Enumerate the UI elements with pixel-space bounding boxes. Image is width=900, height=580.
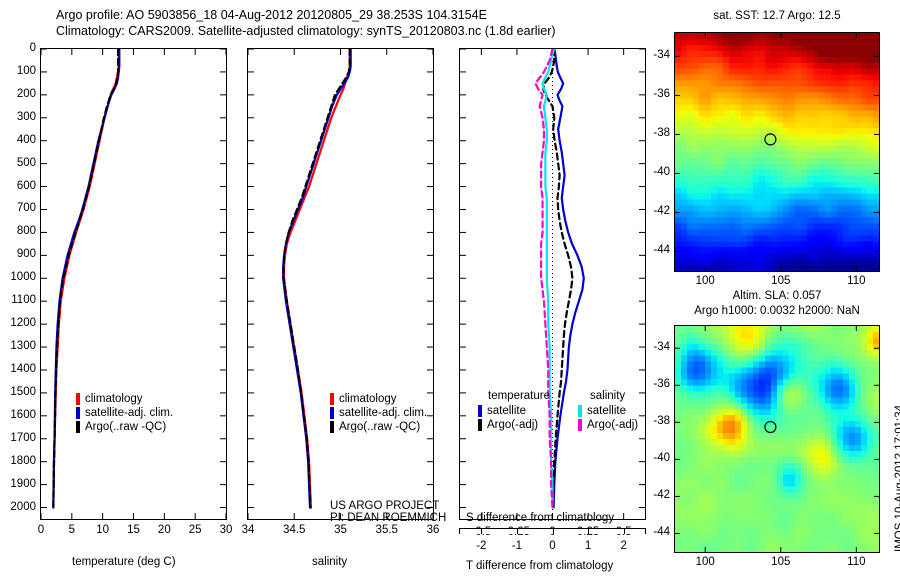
map-y-tick-label: -42 [640,205,670,217]
legend-swatch-satellite [76,407,80,419]
x-tick-label: 35 [319,524,363,536]
y-tick-label: 1000 [0,271,36,283]
y-tick-label: 2000 [0,501,36,513]
credit-line-2: PI: DEAN ROEMMICH [330,512,446,524]
temperature-diff-tick-label: 2 [606,540,642,552]
legend-label: Argo(-adj) [487,419,538,431]
legend-swatch-climatology [76,393,80,405]
credit-line-1: US ARGO PROJECT [330,500,446,512]
y-tick-label: 1100 [0,294,36,306]
x-tick-label: 36 [411,524,455,536]
y-tick-label: 700 [0,202,36,214]
map-y-tick-label: -36 [640,378,670,390]
x-tick-label: 34.5 [272,524,316,536]
header-line-2: Climatology: CARS2009. Satellite-adjuste… [56,24,556,38]
sla-map-title-line-2: Argo h1000: 0.0032 h2000: NaN [660,305,894,317]
y-tick-label: 100 [0,65,36,77]
legend-swatch-climatology [330,393,334,405]
x-tick-label: 35.5 [365,524,409,536]
temperature-diff-tick-label: -2 [463,540,499,552]
map-y-tick-label: -38 [640,127,670,139]
y-tick-label: 400 [0,134,36,146]
salinity-axis-label: salinity [312,556,347,568]
map-x-tick-label: 100 [685,275,725,287]
legend-item: Argo(..raw -QC) [76,420,173,434]
sla-map-title-line-1: Altim. SLA: 0.057 [672,290,882,302]
axis-tick [588,529,589,534]
legend-item: climatology [76,392,173,406]
difference-profile-canvas [460,49,645,519]
legend-label: Argo(..raw -QC) [85,421,166,433]
map-y-tick-label: -38 [640,415,670,427]
header-line-1: Argo profile: AO 5903856_18 04-Aug-2012 … [56,8,556,22]
map-y-tick-label: -40 [640,452,670,464]
legend-label: satellite-adj. clim. [339,407,427,419]
legend-item: Argo(-adj) [578,418,638,432]
temperature-axis-label: temperature (deg C) [72,556,176,568]
difference-legend-salinity: salinity satellite Argo(-adj) [578,390,638,432]
map-x-tick-label: 100 [685,556,725,568]
temperature-diff-tick-label: 0 [535,540,571,552]
map-y-tick-label: -34 [640,49,670,61]
salinity-profile-canvas [248,49,433,519]
y-tick-label: 0 [0,42,36,54]
map-x-tick-label: 110 [836,556,876,568]
map-x-tick-label: 105 [761,556,801,568]
y-tick-label: 1700 [0,432,36,444]
y-tick-label: 600 [0,180,36,192]
legend-swatch-argo-temperature [478,419,482,431]
axis-tick [481,529,482,534]
temperature-profile-plot[interactable] [40,48,227,520]
y-tick-label: 1200 [0,317,36,329]
legend-item: climatology [330,392,427,406]
salinity-difference-axis-label: S difference from climatology [466,512,614,524]
difference-legend-temperature: temperature satellite Argo(-adj) [478,390,550,432]
legend-label: Argo(-adj) [587,419,638,431]
legend-label: satellite [587,405,626,417]
difference-temperature-axis [459,528,646,534]
legend-label: climatology [85,393,143,405]
legend-item: Argo(..raw -QC) [330,420,427,434]
y-tick-label: 1400 [0,363,36,375]
map-y-tick-label: -34 [640,341,670,353]
legend-item: Argo(-adj) [478,418,550,432]
map-y-tick-label: -44 [640,526,670,538]
y-tick-label: 900 [0,248,36,260]
sst-map[interactable] [674,32,880,272]
legend-swatch-argo-salinity [578,419,582,431]
map-y-tick-label: -40 [640,166,670,178]
map-y-tick-label: -36 [640,88,670,100]
temperature-legend: climatology satellite-adj. clim. Argo(..… [76,392,173,434]
legend-label: satellite-adj. clim. [85,407,173,419]
temperature-difference-axis-label: T difference from climatology [466,560,613,572]
difference-profile-plot[interactable] [459,48,646,520]
temperature-diff-tick-label: 1 [570,540,606,552]
legend-label: satellite [487,405,526,417]
y-tick-label: 300 [0,111,36,123]
legend-swatch-satellite-temperature [478,405,482,417]
figure-header: Argo profile: AO 5903856_18 04-Aug-2012 … [56,8,556,38]
temperature-diff-tick-label: -1 [499,540,535,552]
sst-map-canvas [675,33,879,271]
axis-tick [553,529,554,534]
legend-item: satellite-adj. clim. [330,406,427,420]
legend-heading-temperature: temperature [488,390,550,402]
y-tick-label: 1600 [0,409,36,421]
axis-tick [624,529,625,534]
legend-label: climatology [339,393,397,405]
y-tick-label: 1800 [0,455,36,467]
project-credits: US ARGO PROJECT PI: DEAN ROEMMICH [330,500,446,524]
map-y-tick-label: -42 [640,489,670,501]
y-tick-label: 500 [0,157,36,169]
legend-label: Argo(..raw -QC) [339,421,420,433]
y-tick-label: 1500 [0,386,36,398]
map-x-tick-label: 105 [761,275,801,287]
legend-item: satellite-adj. clim. [76,406,173,420]
sst-map-title: sat. SST: 12.7 Argo: 12.5 [672,10,882,22]
legend-item: satellite [578,404,638,418]
y-tick-label: 200 [0,88,36,100]
legend-swatch-satellite [330,407,334,419]
sla-map-canvas [675,326,879,552]
axis-tick [517,529,518,534]
salinity-profile-plot[interactable] [247,48,434,520]
legend-swatch-argo [76,421,80,433]
imos-timestamp: IMOS 10-Aug-2012 17:01:34 [894,405,900,552]
x-tick-label: 34 [226,524,270,536]
y-tick-label: 800 [0,225,36,237]
map-x-tick-label: 110 [836,275,876,287]
legend-heading-salinity: salinity [590,390,638,402]
y-tick-label: 1300 [0,340,36,352]
map-y-tick-label: -44 [640,244,670,256]
temperature-profile-canvas [41,49,226,519]
legend-swatch-argo [330,421,334,433]
sla-map[interactable] [674,325,880,553]
legend-swatch-satellite-salinity [578,405,582,417]
legend-item: satellite [478,404,550,418]
salinity-legend: climatology satellite-adj. clim. Argo(..… [330,392,427,434]
y-tick-label: 1900 [0,478,36,490]
